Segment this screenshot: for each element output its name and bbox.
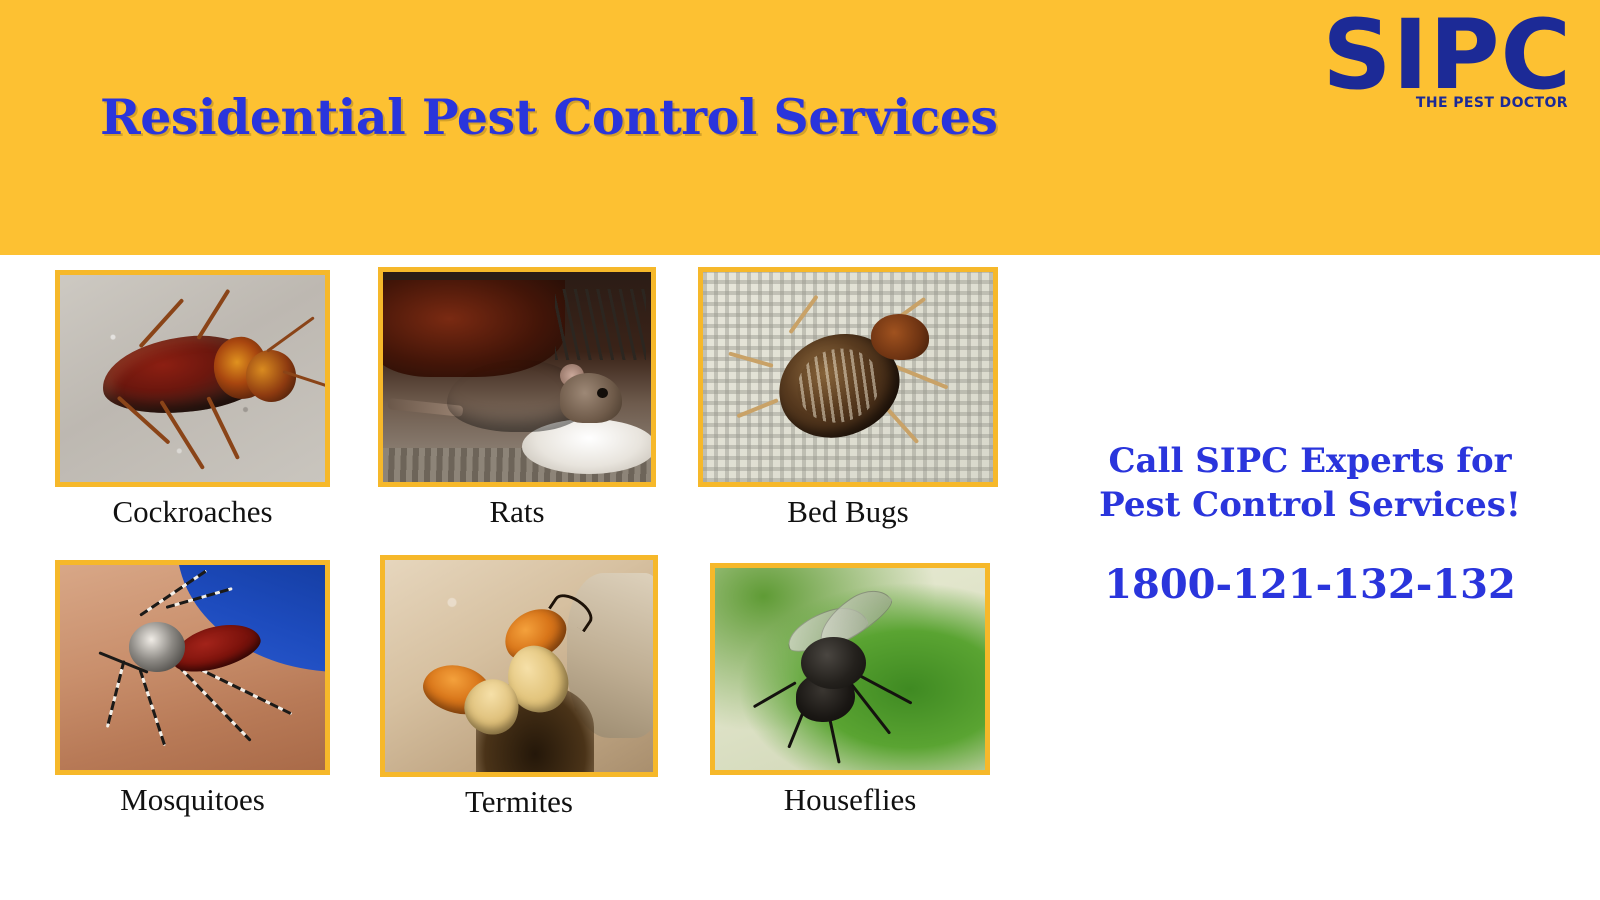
cta-line-2: Pest Control Services!: [1040, 484, 1580, 528]
housefly-photo: [710, 563, 990, 775]
pest-card-bed-bugs[interactable]: Bed Bugs: [698, 267, 998, 530]
pest-caption: Termites: [380, 784, 658, 820]
termite-photo: [380, 555, 658, 777]
call-to-action: Call SIPC Experts for Pest Control Servi…: [1040, 440, 1580, 608]
pest-caption: Rats: [378, 494, 656, 530]
pest-card-rats[interactable]: Rats: [378, 267, 656, 530]
bed-bug-photo: [698, 267, 998, 487]
rat-photo: [378, 267, 656, 487]
pest-card-mosquitoes[interactable]: Mosquitoes: [55, 560, 330, 818]
page-title: Residential Pest Control Services: [100, 88, 998, 146]
mosquito-photo: [55, 560, 330, 775]
pest-caption: Cockroaches: [55, 494, 330, 530]
pest-card-termites[interactable]: Termites: [380, 555, 658, 820]
pest-card-cockroaches[interactable]: Cockroaches: [55, 270, 330, 530]
pest-caption: Bed Bugs: [698, 494, 998, 530]
pest-caption: Mosquitoes: [55, 782, 330, 818]
pest-card-houseflies[interactable]: Houseflies: [710, 563, 990, 818]
cta-line-1: Call SIPC Experts for: [1040, 440, 1580, 484]
pest-caption: Houseflies: [710, 782, 990, 818]
cockroach-photo: [55, 270, 330, 487]
logo-wordmark: SIPC: [1322, 10, 1572, 101]
phone-number[interactable]: 1800-121-132-132: [1040, 561, 1580, 608]
sipc-logo: SIPC THE PEST DOCTOR: [1322, 10, 1572, 111]
